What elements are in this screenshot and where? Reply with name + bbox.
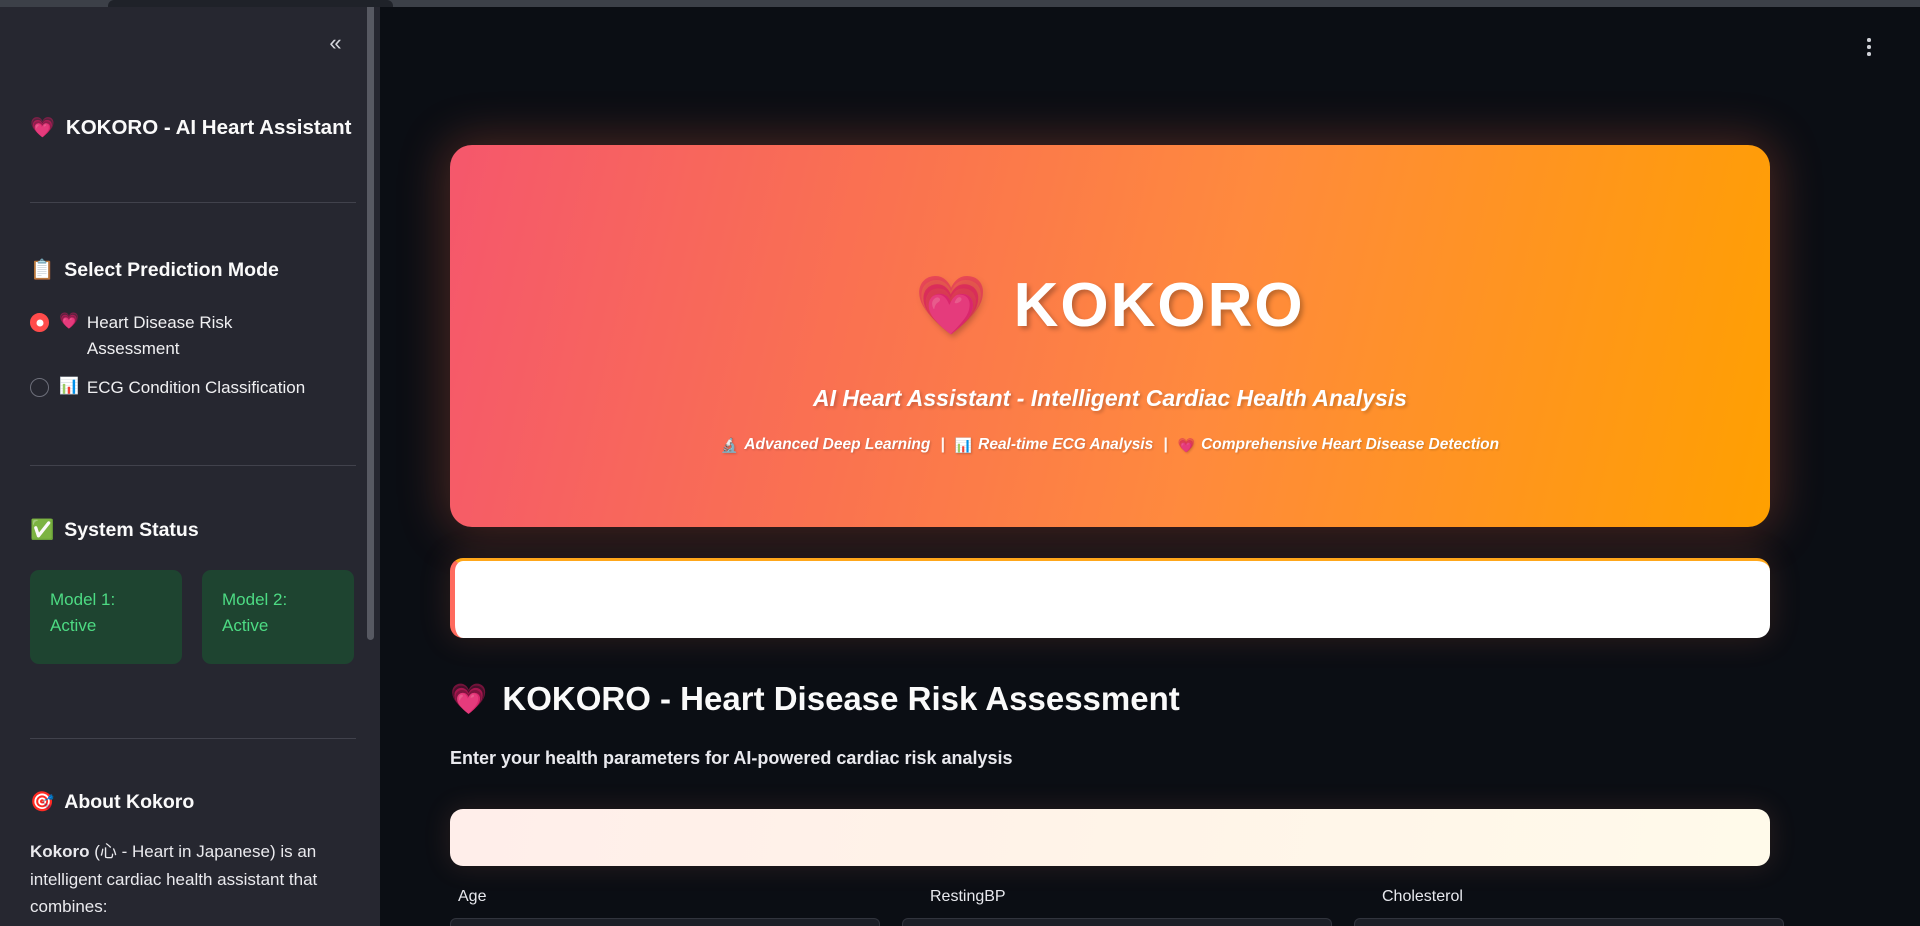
- hero-feature-separator: |: [1163, 436, 1167, 454]
- system-status-cards: Model 1: Active Model 2: Active: [30, 570, 354, 664]
- status-card-model-2-value: Active: [222, 613, 334, 639]
- about-kokoro-heading-label: About Kokoro: [64, 791, 194, 814]
- window-chrome-strip: [0, 0, 1920, 7]
- main-content: 💗 KOKORO AI Heart Assistant - Intelligen…: [380, 0, 1920, 926]
- heart-icon: 💗: [59, 310, 79, 334]
- system-status-heading: ✅ System Status: [30, 518, 199, 542]
- hero-feature-separator: |: [940, 436, 944, 454]
- sidebar-collapse-icon[interactable]: «: [318, 26, 352, 60]
- hero-feature-2: Real-time ECG Analysis: [978, 436, 1153, 454]
- heart-icon: 💗: [915, 272, 987, 340]
- prediction-mode-heading-label: Select Prediction Mode: [64, 259, 279, 282]
- radio-ecg-condition-classification[interactable]: 📊 ECG Condition Classification: [30, 375, 350, 401]
- page-description: Enter your health parameters for AI-powe…: [450, 748, 1013, 769]
- sidebar-divider-1: [30, 202, 356, 203]
- radio-label-ecg: ECG Condition Classification: [87, 375, 305, 401]
- about-kokoro-text: Kokoro (心 - Heart in Japanese) is an int…: [30, 838, 354, 921]
- hero-feature-1: Advanced Deep Learning: [744, 436, 930, 454]
- clipboard-icon: 📋: [30, 258, 54, 282]
- sidebar-brand-title: KOKORO - AI Heart Assistant: [66, 116, 352, 140]
- sidebar-brand: 💗 KOKORO - AI Heart Assistant: [30, 115, 360, 140]
- status-card-model-1: Model 1: Active: [30, 570, 182, 664]
- prediction-mode-radio-group[interactable]: 💗 Heart Disease Risk Assessment 📊 ECG Co…: [30, 310, 350, 415]
- heart-icon: 💗: [30, 115, 55, 140]
- radio-dot-unselected-icon[interactable]: [30, 378, 49, 397]
- hero-title-row: 💗 KOKORO: [915, 270, 1304, 341]
- hero-banner: 💗 KOKORO AI Heart Assistant - Intelligen…: [450, 145, 1770, 527]
- input-age[interactable]: [450, 918, 880, 926]
- vertical-dots-icon: [1867, 38, 1871, 42]
- sidebar-divider-2: [30, 465, 356, 466]
- radio-dot-selected-icon[interactable]: [30, 313, 49, 332]
- status-card-model-1-value: Active: [50, 613, 162, 639]
- sidebar-divider-3: [30, 738, 356, 739]
- hero-feature-3: Comprehensive Heart Disease Detection: [1201, 436, 1499, 454]
- vertical-dots-icon: [1867, 52, 1871, 56]
- app-root: « 💗 KOKORO - AI Heart Assistant 📋 Select…: [0, 0, 1920, 926]
- page-title: 💗 KOKORO - Heart Disease Risk Assessment: [450, 680, 1180, 718]
- prediction-mode-heading: 📋 Select Prediction Mode: [30, 258, 279, 282]
- input-cholesterol[interactable]: [1354, 918, 1784, 926]
- input-restingbp[interactable]: [902, 918, 1332, 926]
- label-restingbp: RestingBP: [930, 888, 1006, 906]
- status-card-model-1-label: Model 1:: [50, 587, 162, 613]
- sidebar-scrollbar-thumb[interactable]: [367, 0, 374, 640]
- heart-icon: 💗: [450, 682, 487, 717]
- about-kokoro-heading: 🎯 About Kokoro: [30, 790, 194, 814]
- microscope-icon: 🔬: [721, 437, 738, 454]
- label-cholesterol: Cholesterol: [1382, 888, 1463, 906]
- browser-tab[interactable]: [108, 0, 393, 7]
- form-field-labels: Age RestingBP Cholesterol: [450, 888, 1770, 926]
- hero-feature-list: 🔬 Advanced Deep Learning | 📊 Real-time E…: [721, 436, 1499, 454]
- about-kokoro-lead: Kokoro: [30, 842, 90, 861]
- heart-icon: 💗: [1178, 437, 1195, 454]
- radio-heart-disease-risk-assessment[interactable]: 💗 Heart Disease Risk Assessment: [30, 310, 350, 361]
- status-card-model-2-label: Model 2:: [222, 587, 334, 613]
- target-icon: 🎯: [30, 790, 54, 814]
- page-title-label: KOKORO - Heart Disease Risk Assessment: [502, 680, 1179, 718]
- main-menu-icon[interactable]: [1852, 30, 1886, 64]
- bar-chart-icon: 📊: [59, 375, 79, 399]
- check-mark-icon: ✅: [30, 518, 54, 542]
- hero-title: KOKORO: [1014, 270, 1305, 341]
- label-age: Age: [458, 888, 486, 906]
- sidebar: « 💗 KOKORO - AI Heart Assistant 📋 Select…: [0, 0, 380, 926]
- info-card: [450, 558, 1770, 638]
- radio-label-heart-disease: Heart Disease Risk Assessment: [87, 310, 317, 361]
- bar-chart-icon: 📊: [955, 437, 972, 454]
- vertical-dots-icon: [1867, 45, 1871, 49]
- system-status-heading-label: System Status: [64, 519, 198, 542]
- form-panel: [450, 809, 1770, 866]
- status-card-model-2: Model 2: Active: [202, 570, 354, 664]
- hero-subtitle: AI Heart Assistant - Intelligent Cardiac…: [813, 385, 1407, 412]
